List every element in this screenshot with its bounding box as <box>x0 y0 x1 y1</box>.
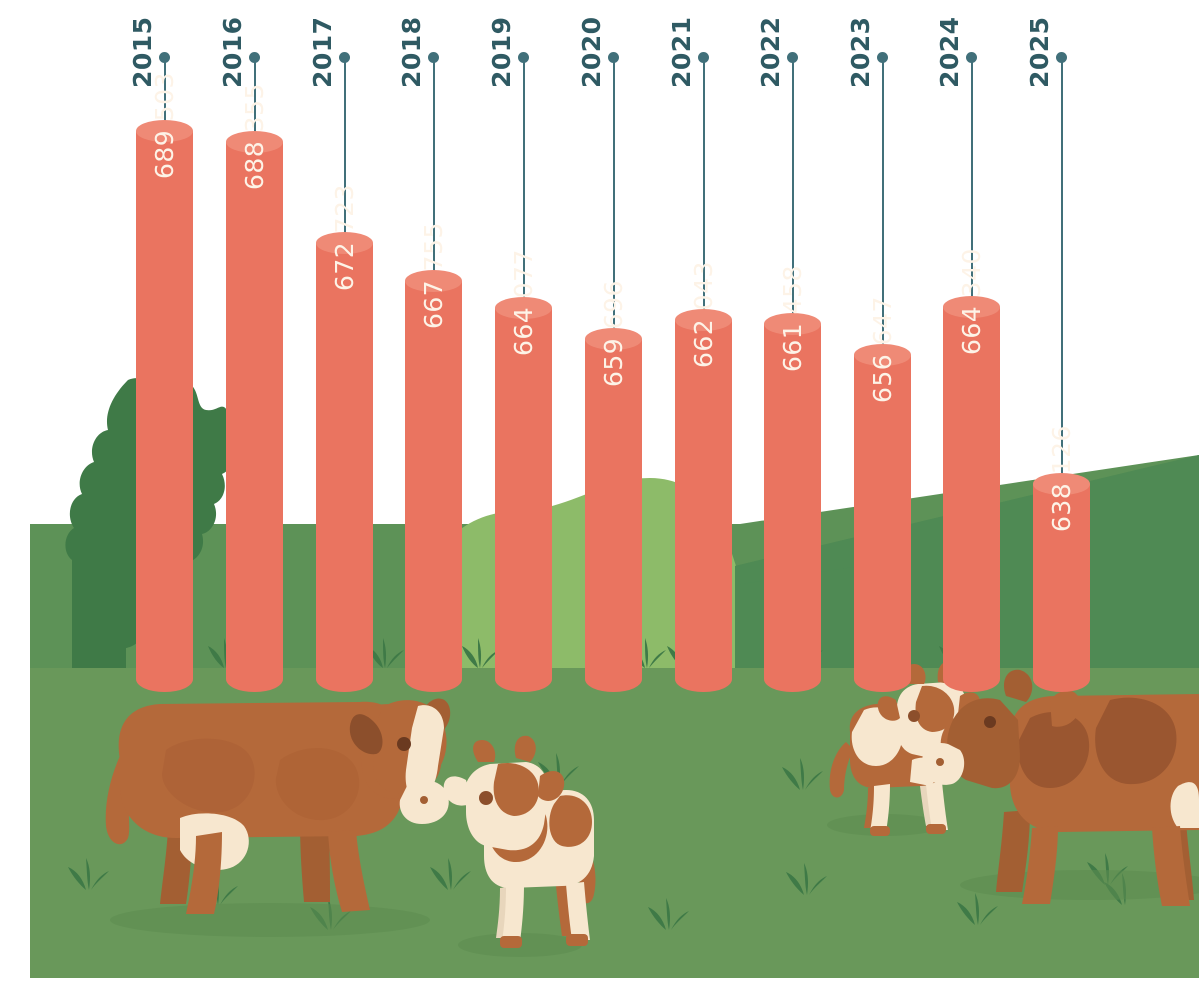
year-label-2018: 2018 <box>397 16 423 88</box>
cylinder-bar: 659 696 <box>585 339 642 702</box>
bar-2025[interactable]: 2025638 126 <box>1033 0 1090 986</box>
cylinder-bar: 688 355 <box>226 142 283 702</box>
year-label-2023: 2023 <box>846 16 872 88</box>
cylinder-body <box>675 320 732 692</box>
bar-value-label: 672 723 <box>330 184 356 291</box>
bar-value-label: 664 340 <box>957 248 983 355</box>
cylinder-body <box>136 131 193 692</box>
bar-2022[interactable]: 2022661 458 <box>764 0 821 986</box>
cylinder-bar: 689 503 <box>136 131 193 702</box>
cylinder-bar: 661 458 <box>764 324 821 702</box>
year-label-2025: 2025 <box>1025 16 1051 88</box>
bar-value-label: 667 755 <box>419 222 445 329</box>
cylinder-bar: 656 647 <box>854 355 911 702</box>
year-label-2020: 2020 <box>577 16 603 88</box>
year-label-2016: 2016 <box>218 16 244 88</box>
cylinder-body <box>943 307 1000 692</box>
cylinder-bar: 667 755 <box>405 281 462 702</box>
bar-2020[interactable]: 2020659 696 <box>585 0 642 986</box>
bar-value-label: 662 043 <box>689 261 715 368</box>
year-label-2021: 2021 <box>667 16 693 88</box>
bar-value-label: 689 503 <box>150 72 176 179</box>
year-label-2024: 2024 <box>935 16 961 88</box>
year-label-2017: 2017 <box>308 16 334 88</box>
infographic-canvas: 2015689 5032016688 3552017672 7232018667… <box>0 0 1199 986</box>
cylinder-body <box>495 308 552 692</box>
bar-2018[interactable]: 2018667 755 <box>405 0 462 986</box>
bar-value-label: 638 126 <box>1047 425 1073 532</box>
cylinder-body <box>316 243 373 692</box>
bar-2016[interactable]: 2016688 355 <box>226 0 283 986</box>
cylinder-body <box>585 339 642 692</box>
year-label-2022: 2022 <box>756 16 782 88</box>
bar-value-label: 661 458 <box>778 265 804 372</box>
cylinder-bar: 638 126 <box>1033 484 1090 702</box>
bar-2024[interactable]: 2024664 340 <box>943 0 1000 986</box>
cylinder-bar: 664 340 <box>943 307 1000 702</box>
bar-2015[interactable]: 2015689 503 <box>136 0 193 986</box>
bar-2023[interactable]: 2023656 647 <box>854 0 911 986</box>
cylinder-bar: 664 077 <box>495 308 552 702</box>
bar-2019[interactable]: 2019664 077 <box>495 0 552 986</box>
bar-series: 2015689 5032016688 3552017672 7232018667… <box>0 0 1199 986</box>
cylinder-body <box>854 355 911 692</box>
bar-value-label: 659 696 <box>599 280 625 387</box>
bar-2021[interactable]: 2021662 043 <box>675 0 732 986</box>
cylinder-bar: 662 043 <box>675 320 732 702</box>
bar-value-label: 664 077 <box>509 249 535 356</box>
cylinder-body <box>226 142 283 692</box>
cylinder-body <box>764 324 821 692</box>
bar-value-label: 688 355 <box>240 83 266 190</box>
year-label-2019: 2019 <box>487 16 513 88</box>
cylinder-body <box>405 281 462 692</box>
cylinder-bar: 672 723 <box>316 243 373 702</box>
bar-value-label: 656 647 <box>868 296 894 403</box>
bar-2017[interactable]: 2017672 723 <box>316 0 373 986</box>
